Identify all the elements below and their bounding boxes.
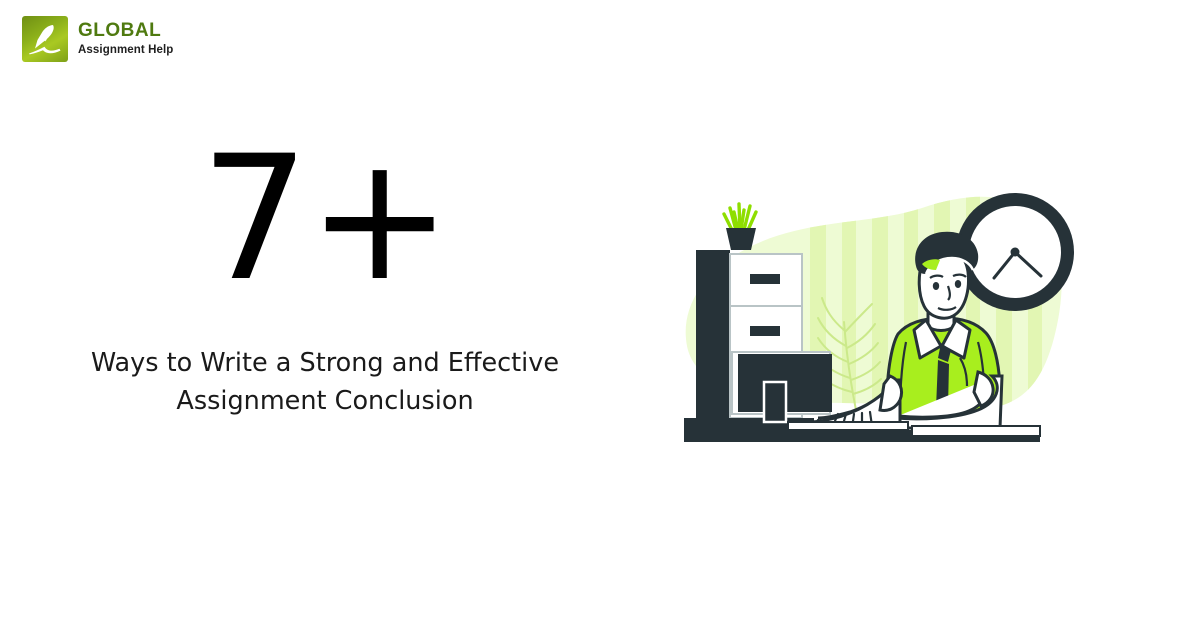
man-writing-at-desk-illustration: [660, 170, 1080, 450]
brand-logo[interactable]: GLOBAL Assignment Help: [22, 16, 173, 62]
keyboard: [788, 422, 908, 430]
monitor: [732, 352, 832, 422]
hero-text-column: 7+ Ways to Write a Strong and Effective …: [60, 140, 590, 421]
brand-subtitle: Assignment Help: [78, 45, 173, 57]
brand-title: GLOBAL: [78, 21, 173, 40]
headline-line-1: Ways to Write a Strong and Effective: [60, 344, 590, 382]
hero-headline: Ways to Write a Strong and Effective Ass…: [60, 344, 590, 421]
pen-nib-icon: [22, 16, 68, 62]
brand-text: GLOBAL Assignment Help: [78, 21, 173, 57]
hero-number: 7+: [60, 140, 590, 298]
potted-plant: [724, 204, 756, 250]
headline-line-2: Assignment Conclusion: [60, 382, 590, 420]
